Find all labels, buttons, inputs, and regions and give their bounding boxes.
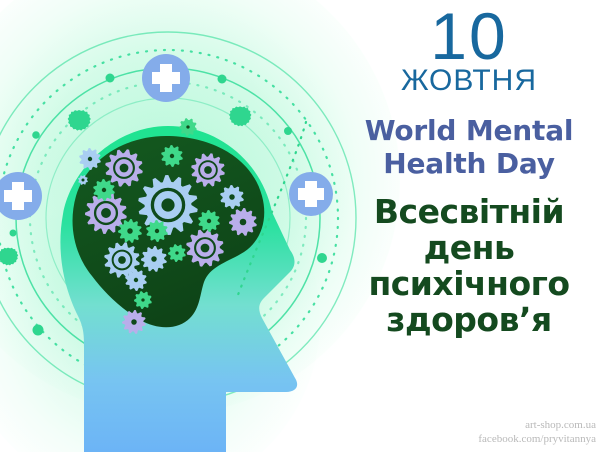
medical-cross-badge-right (289, 172, 333, 216)
title-english-line1: World Mental (365, 114, 574, 147)
medical-cross-badge-top (142, 54, 190, 102)
text-column: 10 жовтня World Mental Health Day Всесві… (344, 0, 594, 452)
title-ukrainian-line4: здоров’я (344, 302, 594, 338)
gear-icon (105, 149, 143, 187)
credits-block: art-shop.com.ua facebook.com/pryvitannya (478, 418, 596, 446)
credit-facebook[interactable]: facebook.com/pryvitannya (478, 432, 596, 446)
title-ukrainian-line1: Всесвітній (344, 194, 594, 230)
gear-icon (186, 229, 224, 267)
head-with-brain-gears-illustration (0, 0, 370, 452)
credit-website[interactable]: art-shop.com.ua (478, 418, 596, 432)
title-english-line2: Health Day (383, 147, 555, 180)
poster-canvas: 10 жовтня World Mental Health Day Всесві… (0, 0, 602, 452)
title-ukrainian: Всесвітній день психічного здоров’я (344, 180, 594, 338)
title-ukrainian-line3: психічного (344, 266, 594, 302)
date-month: жовтня (344, 64, 594, 96)
date-day: 10 (344, 0, 594, 64)
gear-icon (191, 153, 225, 187)
title-english: World Mental Health Day (344, 96, 594, 180)
title-ukrainian-line2: день (344, 230, 594, 266)
